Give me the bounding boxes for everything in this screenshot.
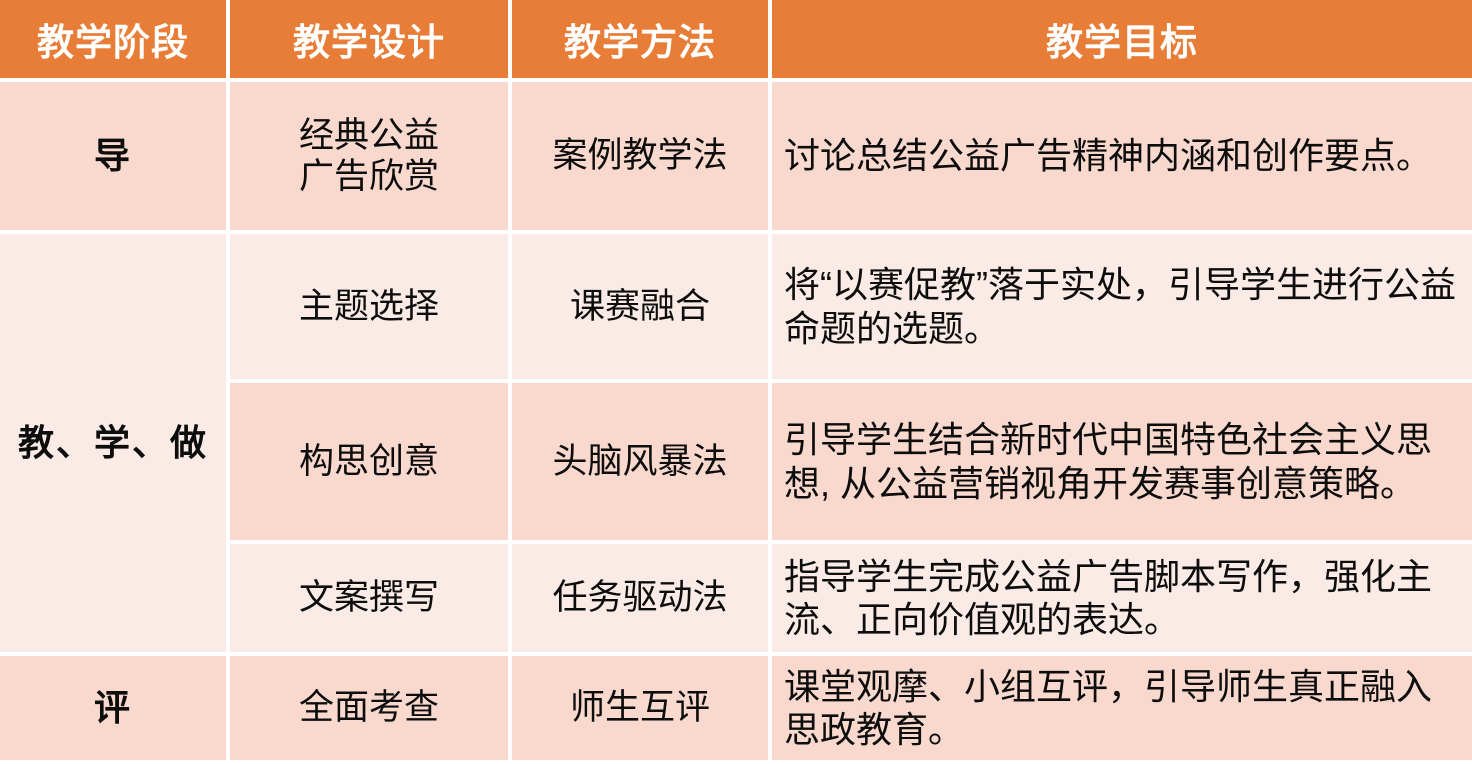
teaching-table-container: 教学阶段 教学设计 教学方法 教学目标 导 经典公益 广告欣赏 案例教学法 讨论…	[0, 0, 1472, 752]
cell-method-renwu: 任务驱动法	[512, 544, 768, 652]
cell-goal-ping: 课堂观摩、小组互评，引导师生真正融入思政教育。	[772, 656, 1472, 760]
column-header-method: 教学方法	[512, 0, 768, 78]
column-header-stage: 教学阶段	[0, 0, 226, 78]
cell-design-quanmian: 全面考查	[230, 656, 508, 760]
cell-design-gousi: 构思创意	[230, 383, 508, 540]
table-row: 导 经典公益 广告欣赏 案例教学法 讨论总结公益广告精神内涵和创作要点。	[0, 82, 1472, 230]
column-header-goal: 教学目标	[772, 0, 1472, 78]
cell-design-dao: 经典公益 广告欣赏	[230, 82, 508, 230]
cell-stage-dao: 导	[0, 82, 226, 230]
table-row: 教、学、做 主题选择 课赛融合 将“以赛促教”落于实处，引导学生进行公益命题的选…	[0, 234, 1472, 379]
cell-goal-gousi: 引导学生结合新时代中国特色社会主义思想, 从公益营销视角开发赛事创意策略。	[772, 383, 1472, 540]
table-row: 评 全面考查 师生互评 课堂观摩、小组互评，引导师生真正融入思政教育。	[0, 656, 1472, 760]
goal-text: 指导学生完成公益广告脚本写作，强化主流、正向价值观的表达。	[784, 555, 1462, 641]
column-header-design: 教学设计	[230, 0, 508, 78]
cell-stage-ping: 评	[0, 656, 226, 760]
goal-text: 课堂观摩、小组互评，引导师生真正融入思政教育。	[784, 665, 1462, 751]
cell-design-zhuti: 主题选择	[230, 234, 508, 379]
goal-text: 将“以赛促教”落于实处，引导学生进行公益命题的选题。	[784, 263, 1462, 349]
teaching-plan-table: 教学阶段 教学设计 教学方法 教学目标 导 经典公益 广告欣赏 案例教学法 讨论…	[0, 0, 1472, 764]
cell-goal-wenan: 指导学生完成公益广告脚本写作，强化主流、正向价值观的表达。	[772, 544, 1472, 652]
cell-stage-jiaoxuezuo: 教、学、做	[0, 234, 226, 652]
design-line-1: 经典公益	[236, 115, 502, 156]
cell-method-kesai: 课赛融合	[512, 234, 768, 379]
cell-goal-dao: 讨论总结公益广告精神内涵和创作要点。	[772, 82, 1472, 230]
design-line-2: 广告欣赏	[236, 156, 502, 197]
cell-method-shisheng: 师生互评	[512, 656, 768, 760]
cell-method-dao: 案例教学法	[512, 82, 768, 230]
table-header: 教学阶段 教学设计 教学方法 教学目标	[0, 0, 1472, 78]
goal-text: 讨论总结公益广告精神内涵和创作要点。	[784, 134, 1462, 177]
goal-text: 引导学生结合新时代中国特色社会主义思想, 从公益营销视角开发赛事创意策略。	[784, 418, 1462, 504]
cell-method-tounao: 头脑风暴法	[512, 383, 768, 540]
cell-design-wenan: 文案撰写	[230, 544, 508, 652]
cell-goal-zhuti: 将“以赛促教”落于实处，引导学生进行公益命题的选题。	[772, 234, 1472, 379]
table-body: 导 经典公益 广告欣赏 案例教学法 讨论总结公益广告精神内涵和创作要点。 教、学…	[0, 82, 1472, 760]
header-row: 教学阶段 教学设计 教学方法 教学目标	[0, 0, 1472, 78]
